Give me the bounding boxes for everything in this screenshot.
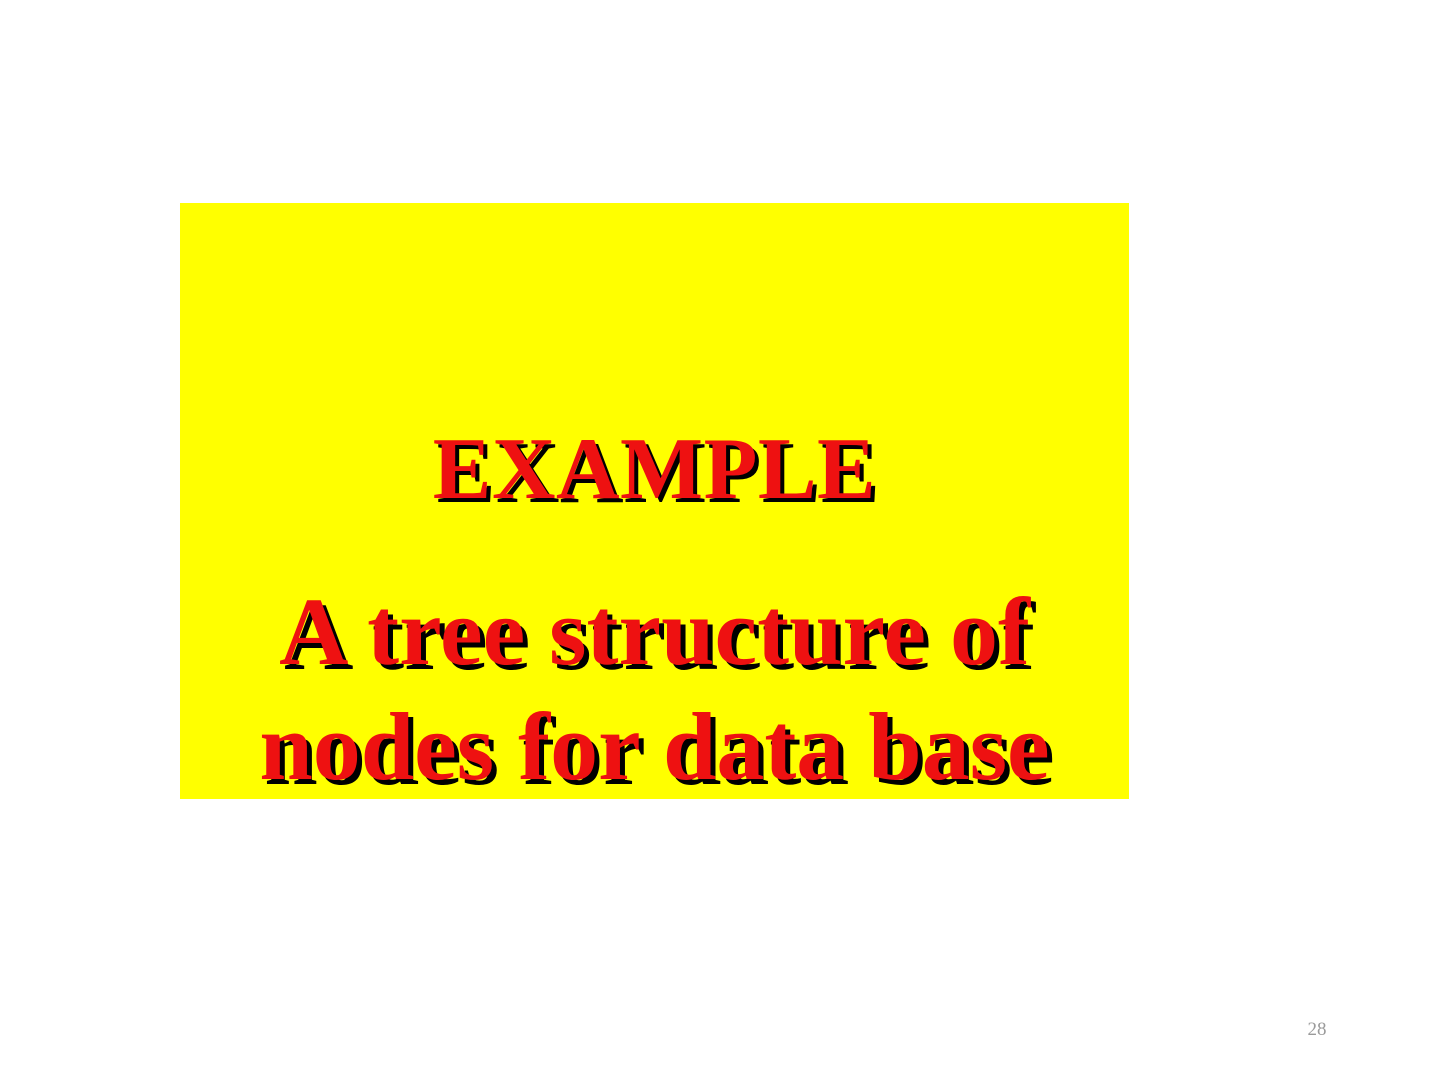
body-line-2: nodes for data base <box>210 689 1099 799</box>
slide-body-text: A tree structure of nodes for data base <box>210 574 1099 799</box>
slide-title: EXAMPLE <box>180 422 1129 518</box>
slide-canvas: EXAMPLE A tree structure of nodes for da… <box>0 0 1440 1080</box>
yellow-content-panel: EXAMPLE A tree structure of nodes for da… <box>180 203 1129 799</box>
page-number: 28 <box>1288 1018 1346 1042</box>
body-line-1: A tree structure of <box>210 574 1099 689</box>
